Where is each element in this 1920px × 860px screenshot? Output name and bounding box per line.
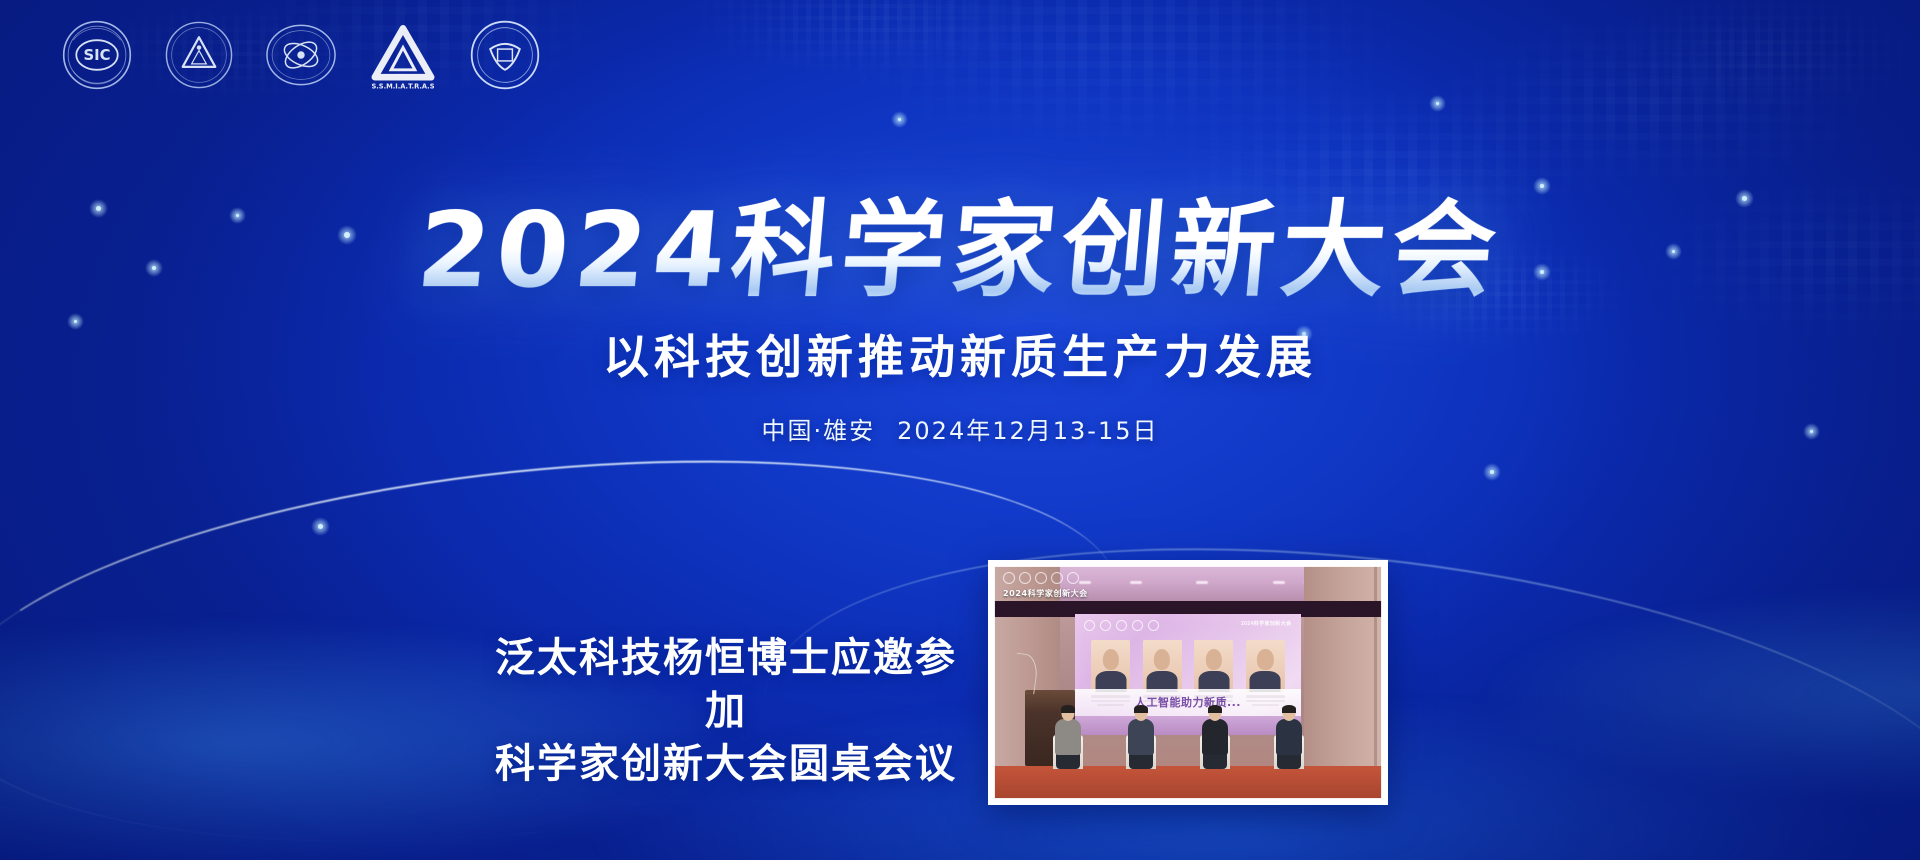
atom-seal-logo (264, 18, 338, 92)
delta-mark-logo: S.S.M.I.A.T.R.A.S (366, 18, 440, 92)
event-location: 中国·雄安 (762, 417, 876, 445)
page-subtitle: 以科技创新推动新质生产力发展 (0, 321, 1920, 387)
svg-text:SIC: SIC (83, 47, 110, 64)
event-caption: 泛太科技杨恒博士应邀参加 科学家创新大会圆桌会议 (476, 632, 976, 790)
triangle-seal-logo (162, 18, 236, 92)
organizer-logo-strip: SIC (60, 18, 542, 92)
event-meta: 中国·雄安2024年12月13-15日 (0, 411, 1920, 446)
delta-mark-wordmark: S.S.M.I.A.T.R.A.S (371, 82, 434, 90)
caption-line-2: 科学家创新大会圆桌会议 (476, 738, 976, 791)
headline-block: 2024科学家创新大会 以科技创新推动新质生产力发展 中国·雄安2024年12月… (0, 196, 1920, 446)
event-photo: 2024科学家创新大会 (988, 560, 1388, 805)
caption-line-1: 泛太科技杨恒博士应邀参加 (476, 632, 976, 738)
sic-seal-logo: SIC (60, 18, 134, 92)
page-title: 2024科学家创新大会 (403, 196, 1516, 305)
conference-poster: SIC (0, 0, 1920, 860)
event-date: 2024年12月13-15日 (897, 417, 1158, 445)
circle-emblem-logo (468, 18, 542, 92)
photo-inner-edge (994, 566, 1382, 799)
event-photo-image: 2024科学家创新大会 (994, 566, 1382, 799)
